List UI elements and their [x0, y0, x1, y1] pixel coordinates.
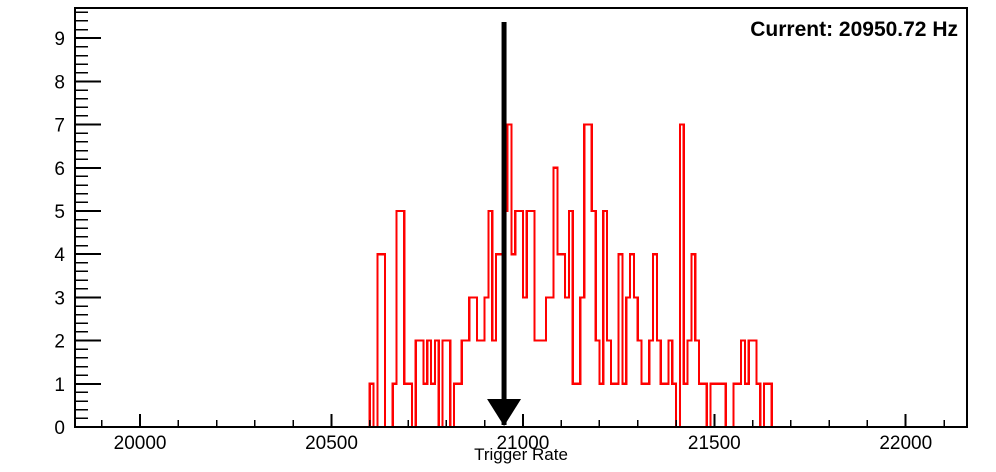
x-axis-title: Trigger Rate: [474, 445, 568, 464]
x-axis-tick-label: 22000: [879, 433, 932, 454]
y-axis-tick-label: 8: [54, 72, 65, 93]
x-axis-tick-label: 21500: [688, 433, 741, 454]
y-axis-tick-label: 6: [54, 159, 65, 180]
y-axis-tick-label: 4: [54, 245, 65, 266]
y-axis-tick-label: 5: [54, 202, 65, 223]
y-axis-tick-label: 2: [54, 332, 65, 353]
x-axis-tick-label: 20500: [305, 433, 358, 454]
y-axis-tick-label: 0: [54, 418, 65, 439]
x-axis-tick-label: 20000: [114, 433, 167, 454]
plot-canvas: 2000020500210002150022000 0123456789 Tri…: [0, 0, 996, 472]
y-axis-tick-label: 1: [54, 375, 65, 396]
current-value-label: Current: 20950.72 Hz: [750, 18, 958, 41]
histogram-figure: 2000020500210002150022000 0123456789 Tri…: [0, 0, 996, 472]
y-axis-tick-label: 9: [54, 29, 65, 50]
y-axis-tick-label: 7: [54, 116, 65, 137]
y-axis-tick-label: 3: [54, 288, 65, 309]
